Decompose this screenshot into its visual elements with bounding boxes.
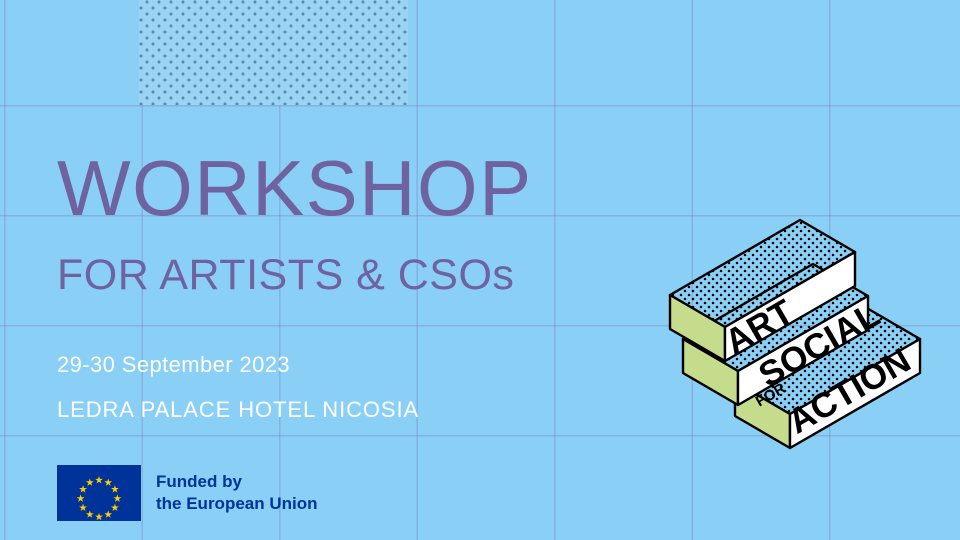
eu-stars-circle-icon — [57, 465, 141, 521]
eu-funding-line1: Funded by — [156, 471, 318, 493]
dotted-texture-panel — [139, 0, 408, 105]
isometric-blocks-illustration: ACTION FOR SOCIAL ART — [655, 205, 945, 450]
eu-funding-lockup: Funded by the European Union — [57, 465, 318, 521]
title-block: WORKSHOP FOR ARTISTS & CSOs — [57, 150, 657, 297]
event-date: 29-30 September 2023 — [57, 352, 419, 378]
page-title: WORKSHOP — [57, 150, 657, 226]
eu-funding-text: Funded by the European Union — [156, 471, 318, 516]
poster-canvas: WORKSHOP FOR ARTISTS & CSOs 29-30 Septem… — [0, 0, 960, 540]
eu-funding-line2: the European Union — [156, 493, 318, 515]
event-meta-block: 29-30 September 2023 LEDRA PALACE HOTEL … — [57, 352, 419, 423]
event-venue: LEDRA PALACE HOTEL NICOSIA — [57, 397, 419, 423]
page-subtitle: FOR ARTISTS & CSOs — [57, 254, 657, 297]
art-for-social-action-artwork: ACTION FOR SOCIAL ART — [655, 205, 945, 450]
european-union-flag-icon — [57, 465, 141, 521]
